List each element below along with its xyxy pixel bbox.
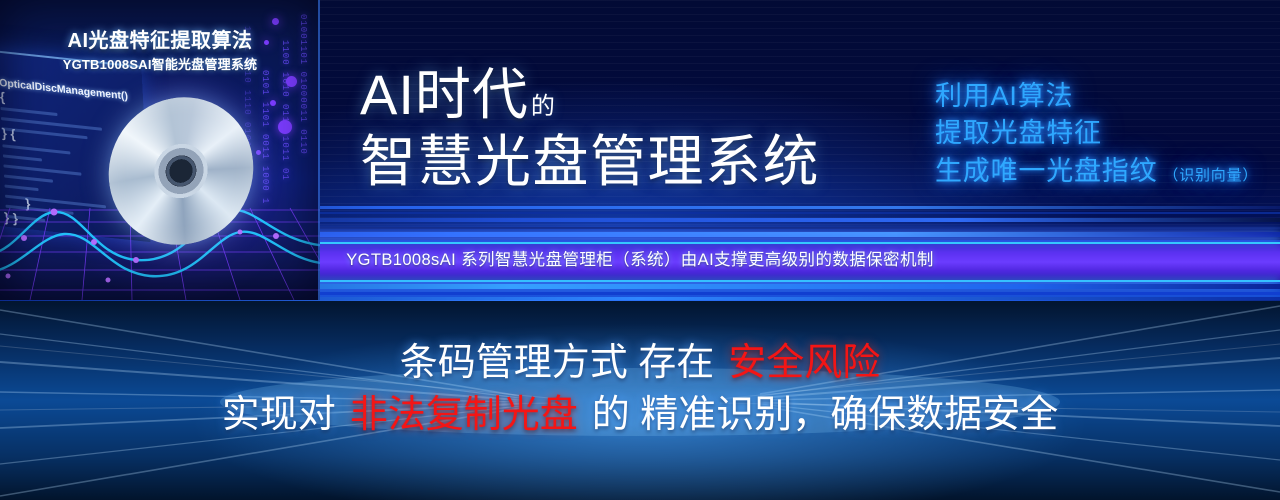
- bottom-line-1-highlight: 安全风险: [728, 342, 880, 384]
- subtitle-bar: YGTB1008sAI 系列智慧光盘管理柜（系统）由AI支撑更高级别的数据保密机…: [0, 244, 1280, 272]
- bottom-line-2: 实现对非法复制光盘的 精准识别，确保数据安全: [0, 390, 1280, 442]
- headline-line1-suffix: 的: [531, 86, 555, 121]
- promo-banner: AI时代 的 智慧光盘管理系统 利用AI算法 提取光盘特征 生成唯一光盘指纹（识…: [0, 0, 1280, 500]
- headline: AI时代 的 智慧光盘管理系统: [360, 66, 820, 195]
- feature-item-3-label: 生成唯一光盘指纹: [935, 156, 1157, 186]
- feature-item-2-label: 提取光盘特征: [935, 118, 1102, 148]
- panel-title: AI光盘特征提取算法: [0, 24, 320, 53]
- bottom-line-1-part1: 条码管理方式 存在: [400, 342, 715, 384]
- subtitle-bar-text: YGTB1008sAI 系列智慧光盘管理柜（系统）由AI支撑更高级别的数据保密机…: [346, 246, 934, 270]
- feature-item-1-label: 利用AI算法: [935, 81, 1073, 111]
- particle-dot: [278, 120, 292, 134]
- bottom-line-2-part1: 实现对: [222, 394, 336, 436]
- particle-dot: [286, 76, 297, 87]
- feature-item-3-note: （识别向量）: [1163, 167, 1258, 184]
- feature-list: 利用AI算法 提取光盘特征 生成唯一光盘指纹（识别向量）: [935, 78, 1258, 190]
- bottom-section: 条码管理方式 存在安全风险 实现对非法复制光盘的 精准识别，确保数据安全: [0, 300, 1280, 500]
- bottom-line-2-highlight: 非法复制光盘: [350, 394, 578, 436]
- feature-item-2: 提取光盘特征: [935, 115, 1258, 152]
- headline-line2: 智慧光盘管理系统: [360, 129, 820, 195]
- bottom-message: 条码管理方式 存在安全风险 实现对非法复制光盘的 精准识别，确保数据安全: [0, 338, 1280, 441]
- bottom-line-1: 条码管理方式 存在安全风险: [0, 338, 1280, 390]
- particle-dot: [270, 100, 276, 106]
- feature-item-3: 生成唯一光盘指纹（识别向量）: [935, 153, 1258, 190]
- panel-subtitle: YGTB1008SAI智能光盘管理系统: [0, 54, 320, 73]
- headline-line1-main: AI时代: [360, 66, 529, 123]
- feature-item-1: 利用AI算法: [935, 78, 1258, 115]
- bottom-line-2-part2: 的 精准识别，确保数据安全: [592, 394, 1059, 436]
- top-section: AI时代 的 智慧光盘管理系统 利用AI算法 提取光盘特征 生成唯一光盘指纹（识…: [0, 0, 1280, 300]
